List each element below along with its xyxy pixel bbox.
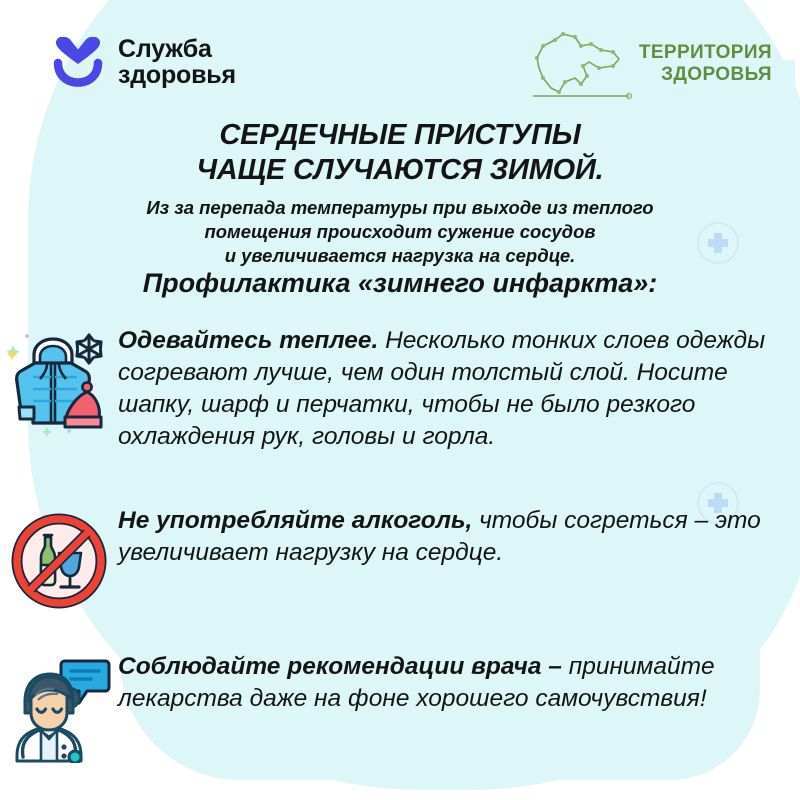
winter-jacket-icon <box>7 327 111 439</box>
tip-text: Соблюдайте рекомендации врача – принимай… <box>118 651 800 715</box>
tip-icon-slot <box>0 505 118 609</box>
no-alcohol-icon <box>11 513 107 609</box>
logo-line-2: здоровья <box>118 62 236 88</box>
title-line-1: СЕРДЕЧНЫЕ ПРИСТУПЫ <box>0 118 800 153</box>
page-subtitle: Из за перепада температуры при выходе из… <box>0 196 800 268</box>
territory-line-2: ЗДОРОВЬЯ <box>639 64 772 86</box>
territory-line-1: ТЕРРИТОРИЯ <box>639 42 772 64</box>
territoriya-zdorovya-logo: ТЕРРИТОРИЯ ЗДОРОВЬЯ <box>529 26 772 108</box>
infographic-poster: Служба здоровья <box>0 0 800 800</box>
logo-line-1: Служба <box>118 36 236 62</box>
tip-lead: Соблюдайте рекомендации врача – <box>118 653 562 680</box>
page-title: СЕРДЕЧНЫЕ ПРИСТУПЫ ЧАЩЕ СЛУЧАЮТСЯ ЗИМОЙ. <box>0 118 800 189</box>
section-title: Профилактика «зимнего инфаркта»: <box>0 268 800 299</box>
list-item: Не употребляйте алкоголь, чтобы согретьс… <box>0 505 800 609</box>
list-item: Одевайтесь теплее. Несколько тонких слое… <box>0 325 800 453</box>
doctor-advice-icon <box>7 657 111 763</box>
tip-icon-slot <box>0 325 118 439</box>
tip-icon-slot <box>0 651 118 763</box>
subtitle-line-2: помещения происходит сужение сосудов <box>0 220 800 244</box>
list-item: Соблюдайте рекомендации врача – принимай… <box>0 651 800 763</box>
tip-lead: Не употребляйте алкоголь, <box>118 507 472 534</box>
region-map-icon <box>529 26 637 108</box>
headline-block: СЕРДЕЧНЫЕ ПРИСТУПЫ ЧАЩЕ СЛУЧАЮТСЯ ЗИМОЙ.… <box>0 118 800 268</box>
heart-smile-logo-icon <box>52 37 104 87</box>
title-line-2: ЧАЩЕ СЛУЧАЮТСЯ ЗИМОЙ. <box>0 153 800 188</box>
tip-text: Одевайтесь теплее. Несколько тонких слое… <box>118 325 800 453</box>
poster-header: Служба здоровья <box>0 0 800 115</box>
sluzhba-zdorovya-logo: Служба здоровья <box>52 36 236 88</box>
tips-list: Одевайтесь теплее. Несколько тонких слое… <box>0 325 800 763</box>
tip-text: Не употребляйте алкоголь, чтобы согретьс… <box>118 505 800 569</box>
tip-lead: Одевайтесь теплее. <box>118 327 378 354</box>
logo-wordmark: Служба здоровья <box>118 36 236 88</box>
subtitle-line-3: и увеличивается нагрузка на сердце. <box>0 244 800 268</box>
territory-wordmark: ТЕРРИТОРИЯ ЗДОРОВЬЯ <box>639 42 772 92</box>
subtitle-line-1: Из за перепада температуры при выходе из… <box>0 196 800 220</box>
